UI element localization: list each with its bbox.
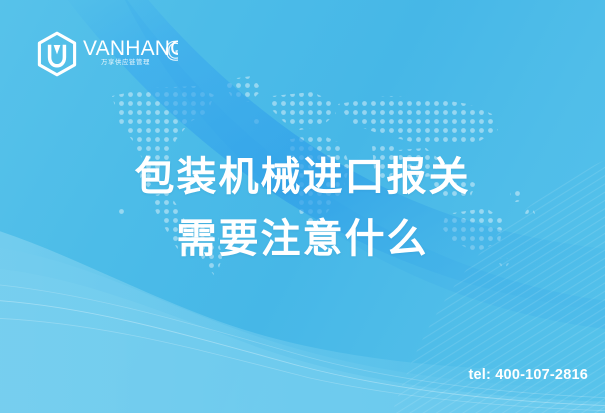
brand-wordmark: VANHANG G 万享供应链管理 xyxy=(83,31,178,77)
contact-phone: tel: 400-107-2816 xyxy=(469,367,588,383)
headline-line-2: 需要注意什么 xyxy=(0,208,605,270)
headline-line-1: 包装机械进口报关 xyxy=(0,146,605,208)
headline-block: 包装机械进口报关 需要注意什么 xyxy=(0,146,605,270)
brand-subtitle: 万享供应链管理 xyxy=(101,57,150,66)
vanhang-hexagon-u-icon xyxy=(36,31,78,77)
brand-text: VANHANG xyxy=(83,37,178,60)
brand-logo[interactable]: VANHANG G 万享供应链管理 xyxy=(36,30,178,78)
promo-banner: VANHANG G 万享供应链管理 包装机械进口报关 需要注意什么 tel: 4… xyxy=(0,0,605,413)
brand-text-g-outline: G xyxy=(165,36,178,66)
